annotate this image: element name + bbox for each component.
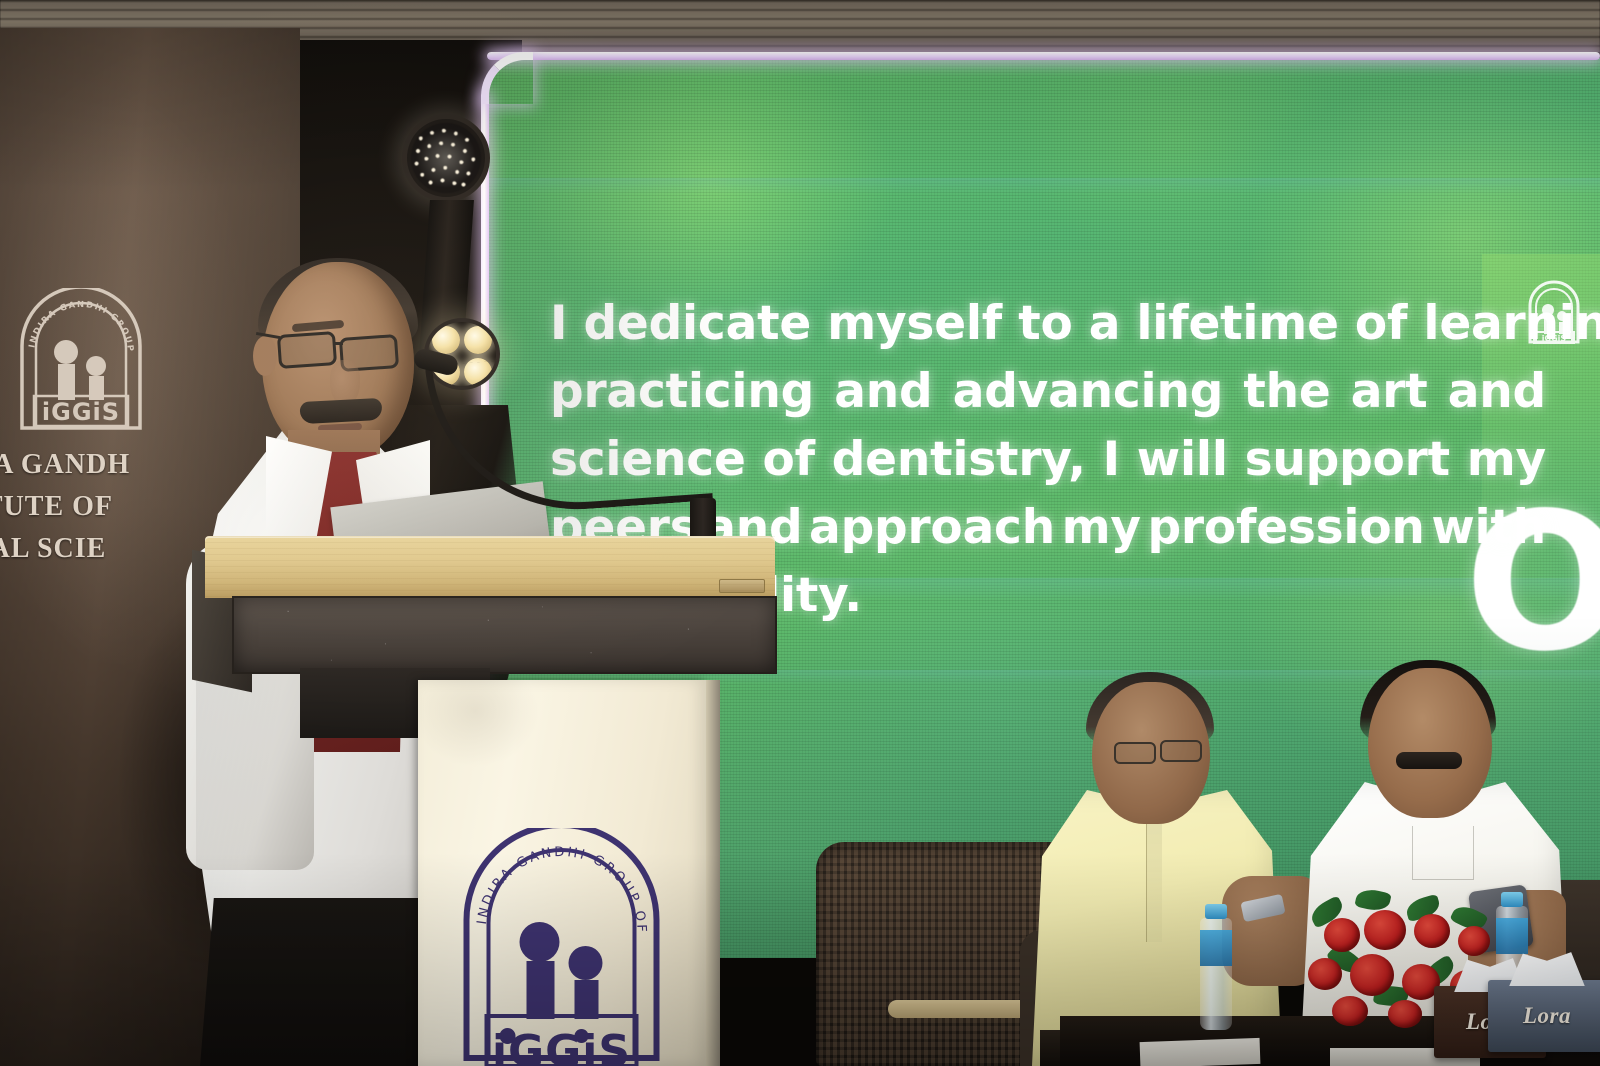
oath-word: art — [1351, 358, 1428, 426]
iggis-logo-backdrop-icon: INDIRA GANDHI GROUP OF INSTITUTIONS iGGi… — [14, 288, 148, 434]
svg-text:iGGiS: iGGiS — [42, 398, 120, 426]
table-papers — [1140, 1038, 1261, 1066]
led-par-light-icon — [402, 114, 490, 202]
speaker-ear — [253, 336, 277, 376]
guest-right-head — [1368, 668, 1492, 818]
guest-left-eyeglasses-icon — [1114, 740, 1214, 766]
oath-word: I — [1103, 426, 1120, 494]
oath-word: and — [1448, 358, 1546, 426]
oath-word: of — [763, 426, 815, 494]
oath-word: my — [1062, 494, 1141, 562]
podium-granite-band — [232, 596, 777, 674]
oath-word: advancing — [953, 358, 1223, 426]
speaker-trousers — [200, 898, 430, 1066]
svg-text:iGGiS: iGGiS — [492, 1026, 631, 1066]
oath-word: and — [834, 358, 932, 426]
podium-top-surface — [205, 536, 775, 598]
oath-word: with — [1431, 494, 1546, 562]
oath-word: will — [1137, 426, 1228, 494]
oath-word: the — [1243, 358, 1330, 426]
oath-word: support — [1245, 426, 1450, 494]
tissue-box[interactable]: Lora — [1488, 980, 1600, 1052]
water-bottle[interactable] — [1200, 918, 1232, 1030]
led-border-strip-top — [487, 52, 1600, 60]
speaker-mustache — [299, 398, 382, 424]
podium-banner: INDIRA GANDHI GROUP OF INSTITUTIONS iGGi… — [418, 680, 706, 1066]
backdrop-institute-title: RA GANDH ITUTE OF TAL SCIE — [0, 444, 202, 570]
oath-word: profession — [1147, 494, 1424, 562]
backdrop-title-line-1: RA GANDH — [0, 444, 202, 486]
podium-banner-edge — [706, 680, 720, 1066]
guest-right-mustache — [1396, 752, 1462, 769]
oath-word: dentistry, — [832, 426, 1086, 494]
led-scan-band — [487, 178, 1600, 194]
backdrop-title-line-2: ITUTE OF — [0, 486, 202, 528]
iggis-logo-podium-icon: INDIRA GANDHI GROUP OF INSTITUTIONS iGGi… — [455, 828, 670, 1066]
oath-word: approach — [809, 494, 1055, 562]
guest-right-shirt-pocket — [1412, 826, 1474, 880]
podium-nameplate — [719, 579, 765, 593]
oath-word: my — [1467, 426, 1546, 494]
backdrop-title-line-3: TAL SCIE — [0, 528, 202, 570]
conference-stage-photo: iGGiS O I dedicate myself to a lifetime … — [0, 0, 1600, 1066]
tissue-box-brand: Lora — [1488, 1003, 1600, 1029]
